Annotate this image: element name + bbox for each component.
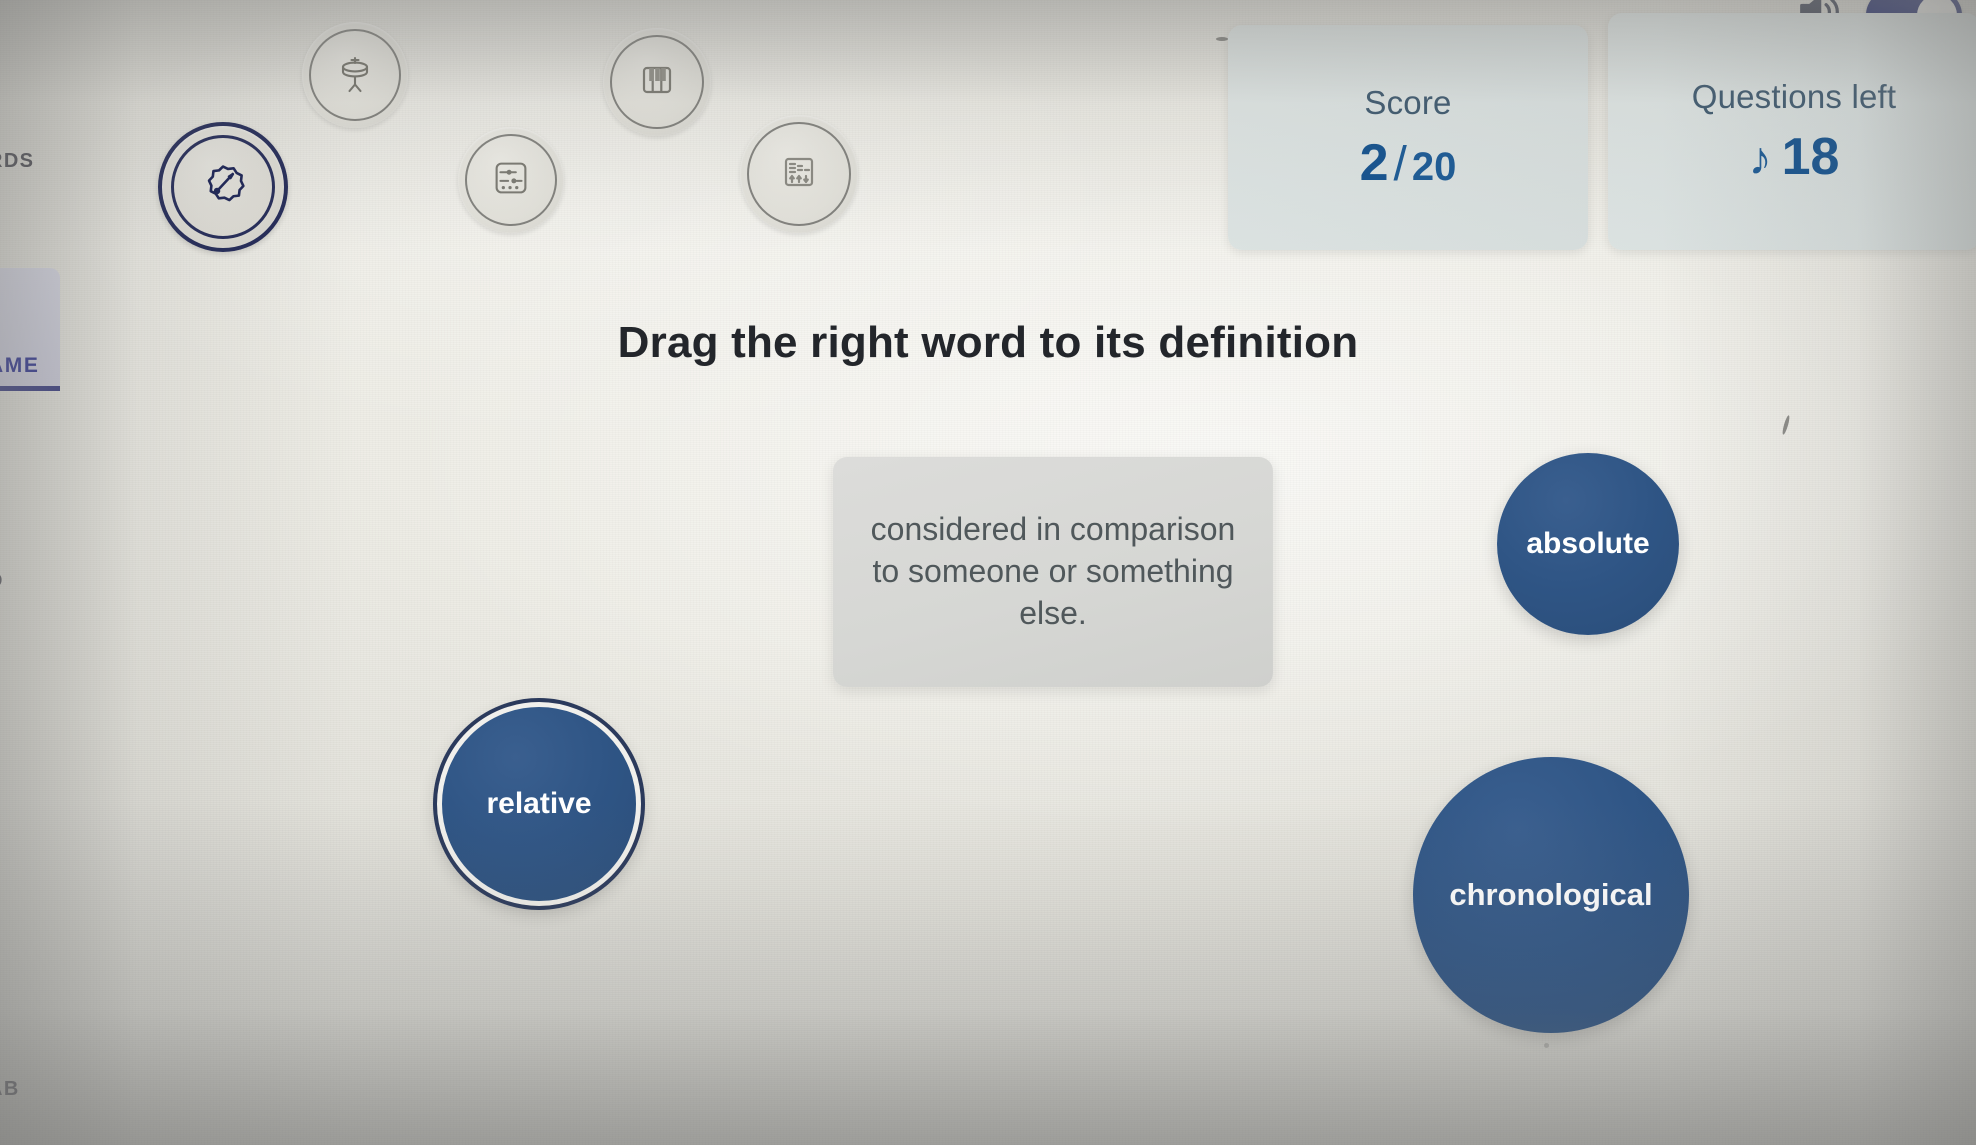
tuner-gauge-icon bbox=[197, 159, 249, 216]
definition-drop-target[interactable]: considered in comparison to someone or s… bbox=[833, 457, 1273, 687]
sidebar-item-ab[interactable]: AB bbox=[0, 1078, 20, 1101]
drum-cymbal-icon bbox=[331, 49, 379, 102]
music-note-icon: ♪ bbox=[1749, 135, 1772, 181]
toolbar-button-tuner[interactable] bbox=[158, 122, 288, 252]
equalizer-icon bbox=[775, 148, 823, 201]
toolbar-button-drums[interactable] bbox=[302, 22, 408, 128]
questions-left-count: 18 bbox=[1782, 131, 1840, 183]
questions-left-card: Questions left ♪ 18 bbox=[1608, 13, 1976, 250]
score-label: Score bbox=[1364, 86, 1451, 119]
score-card: Score 2 / 20 bbox=[1228, 25, 1588, 250]
definition-text: considered in comparison to someone or s… bbox=[859, 509, 1247, 635]
score-total: 20 bbox=[1412, 147, 1457, 187]
toolbar-button-equalizer[interactable] bbox=[740, 115, 858, 233]
score-value: 2 / 20 bbox=[1360, 137, 1457, 189]
word-option-relative[interactable]: relative bbox=[437, 702, 641, 906]
questions-left-value: ♪ 18 bbox=[1749, 131, 1840, 183]
mixer-sliders-icon bbox=[488, 155, 534, 206]
page-title: Drag the right word to its definition bbox=[0, 318, 1976, 368]
screen: RDS AME T D AB bbox=[0, 0, 1976, 1145]
toolbar-button-mixer[interactable] bbox=[458, 127, 564, 233]
instrument-toolbar bbox=[0, 0, 900, 230]
questions-left-label: Questions left bbox=[1692, 80, 1897, 113]
score-current: 2 bbox=[1360, 137, 1389, 189]
word-option-absolute[interactable]: absolute bbox=[1497, 453, 1679, 635]
toolbar-button-piano[interactable] bbox=[603, 28, 711, 136]
piano-keys-icon bbox=[633, 56, 681, 109]
score-separator: / bbox=[1394, 141, 1407, 189]
word-option-chronological[interactable]: chronological bbox=[1413, 757, 1689, 1033]
sidebar-item-d[interactable]: D bbox=[0, 570, 4, 593]
sidebar-item-t[interactable]: T bbox=[0, 412, 2, 435]
